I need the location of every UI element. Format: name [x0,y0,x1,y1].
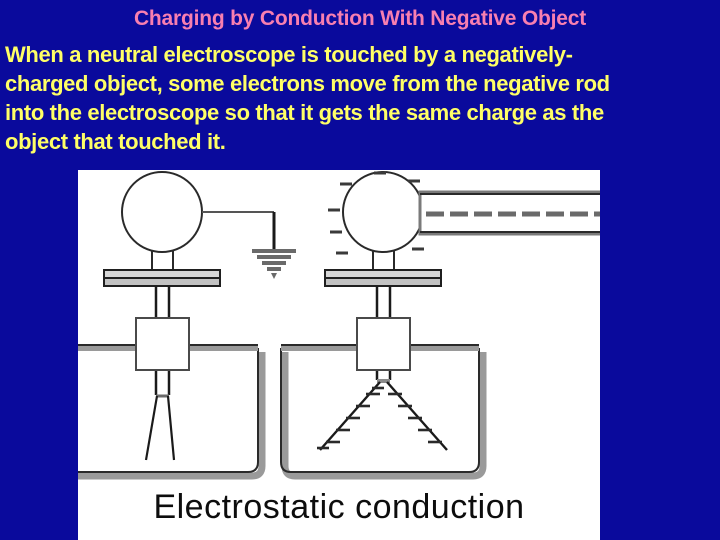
left-electroscope-ball [122,172,202,252]
left-electroscope-group [78,172,296,476]
body-paragraph: When a neutral electroscope is touched b… [5,40,711,156]
slide-canvas: Charging by Conduction With Negative Obj… [0,0,720,540]
figure-caption: Electrostatic conduction [78,488,600,527]
earth-ground-icon [252,249,296,279]
left-electroscope-plate [104,270,220,286]
body-line-1: When a neutral electroscope is touched b… [5,40,711,69]
right-electroscope-leaves [317,381,447,450]
left-stopper-collar [136,318,189,370]
body-line-3: into the electroscope so that it gets th… [5,98,711,127]
negatively-charged-rod [420,192,600,234]
body-line-2: charged object, some electrons move from… [5,69,711,98]
right-electroscope-ball [343,172,423,252]
right-stopper-collar [357,318,410,370]
figure-image: Electrostatic conduction [78,170,600,540]
right-electroscope-group [281,172,600,476]
left-electroscope-leaves [146,396,174,460]
page-title: Charging by Conduction With Negative Obj… [0,7,720,31]
leaf-negative-charge-signs [317,388,442,448]
electroscope-diagram [78,170,600,540]
body-line-4: object that touched it. [5,127,711,156]
right-electroscope-plate [325,270,441,286]
